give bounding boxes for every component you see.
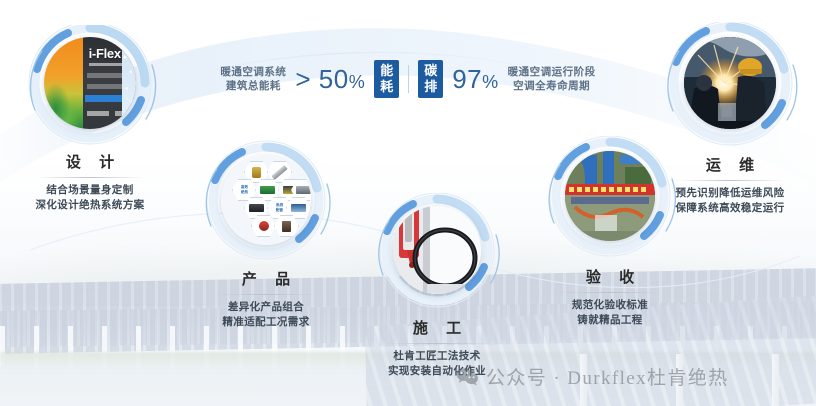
operations-desc-line1: 预先识别降低运维风险 — [648, 186, 812, 201]
construction-title: 施 工 — [355, 317, 519, 338]
operations-title: 运 维 — [648, 154, 812, 175]
watermark-text: 公众号 · Durkflex杜肯绝热 — [486, 363, 729, 390]
infographic-stage: 暖通空调系统 建筑总能耗 > 50% 能 耗 碳 排 97% 暖通空调运行阶段 … — [0, 0, 816, 406]
iflex-title: i-Flex — [89, 46, 121, 61]
product-icon — [259, 221, 269, 231]
product-title: 产 品 — [184, 268, 348, 289]
acceptance-title: 验 收 — [528, 266, 692, 287]
header-stat-band: 暖通空调系统 建筑总能耗 > 50% 能 耗 碳 排 97% 暖通空调运行阶段 … — [196, 52, 620, 106]
watermark: 公众号 · Durkflex杜肯绝热 — [456, 363, 729, 390]
stat-right-label: 暖通空调运行阶段 空调全寿命周期 — [508, 65, 596, 93]
construction-desc-line1: 杜肯工匠工法技术 — [355, 349, 519, 364]
product-desc-line1: 差异化产品组合 — [184, 300, 348, 315]
design-desc-line2: 深化设计绝热系统方案 — [8, 198, 172, 213]
badge-energy: 能 耗 — [374, 60, 399, 98]
welding-worker-photo — [684, 37, 776, 129]
product-icon — [296, 186, 311, 194]
product-icon-label: 高效绝热 — [241, 185, 248, 194]
acceptance-desc-line2: 铸就精品工程 — [528, 313, 692, 328]
iflex-app-screen: i-Flex — [44, 37, 136, 129]
iflex-panel: i-Flex — [83, 37, 136, 129]
design-title: 设 计 — [8, 151, 172, 172]
badge-carbon-char1: 碳 — [424, 63, 437, 79]
stat-right-value: 97% — [452, 64, 498, 95]
cutting-machine-illustration — [393, 206, 481, 294]
acceptance-photo — [565, 151, 655, 241]
hvac-duct-illustration — [565, 151, 655, 241]
stat-left-label: 暖通空调系统 建筑总能耗 — [220, 65, 286, 93]
badge-energy-char1: 能 — [380, 63, 393, 79]
automated-cutting-machine-photo — [393, 206, 481, 294]
stat-right-label-line1: 暖通空调运行阶段 — [508, 65, 596, 79]
product-icon — [291, 204, 306, 212]
node-product[interactable]: 高效绝热 系统配套 产 品 差异化产品组合 精准适配工况需求 — [184, 140, 348, 330]
product-icon — [282, 221, 291, 232]
badge-separator — [408, 65, 409, 93]
node-design[interactable]: i-Flex 设 计 结合场景量身定制 深化设计绝热系统方案 — [8, 25, 172, 213]
product-icon — [271, 165, 287, 180]
hvac-duct-site-photo — [565, 151, 655, 241]
operations-desc-line2: 保障系统高效稳定运行 — [648, 201, 812, 216]
product-icon — [252, 167, 261, 178]
badge-carbon: 碳 排 — [418, 60, 443, 98]
design-rule — [36, 177, 144, 178]
operations-rule — [676, 180, 784, 181]
badge-carbon-char2: 排 — [424, 79, 437, 95]
stat-left-label-line1: 暖通空调系统 — [220, 65, 286, 79]
construction-photo — [393, 206, 481, 294]
node-construction[interactable]: 施 工 杜肯工匠工法技术 实现安装自动化作业 — [355, 193, 519, 379]
welding-worker-illustration — [684, 37, 776, 129]
product-rule — [212, 294, 320, 295]
operations-photo — [684, 37, 776, 129]
wechat-icon — [456, 367, 479, 386]
stat-left-number: > 50 — [295, 64, 348, 94]
acceptance-desc-line1: 规范化验收标准 — [528, 298, 692, 313]
badge-energy-char2: 耗 — [380, 79, 393, 95]
product-icon — [260, 186, 275, 194]
product-icon — [249, 204, 264, 212]
stat-left-label-line2: 建筑总能耗 — [220, 79, 286, 93]
construction-rule — [383, 343, 491, 344]
stat-right-label-line2: 空调全寿命周期 — [508, 79, 596, 93]
iflex-heatmap — [44, 37, 83, 129]
stat-right-number: 97 — [452, 64, 482, 94]
iflex-chip — [87, 111, 109, 116]
product-desc-line2: 精准适配工况需求 — [184, 315, 348, 330]
design-photo: i-Flex — [44, 37, 136, 129]
stat-right-percent: % — [482, 72, 499, 92]
node-operations[interactable]: 运 维 预先识别降低运维风险 保障系统高效稳定运行 — [648, 22, 812, 216]
stat-left-value: > 50% — [295, 64, 365, 95]
iflex-sensor-dots — [122, 37, 136, 129]
acceptance-rule — [556, 292, 664, 293]
product-icon-label: 系统配套 — [276, 203, 283, 212]
product-hex-grid: 高效绝热 系统配套 — [221, 155, 311, 245]
stat-left-percent: % — [349, 72, 366, 92]
design-desc-line1: 结合场景量身定制 — [8, 183, 172, 198]
product-photo: 高效绝热 系统配套 — [221, 155, 311, 245]
